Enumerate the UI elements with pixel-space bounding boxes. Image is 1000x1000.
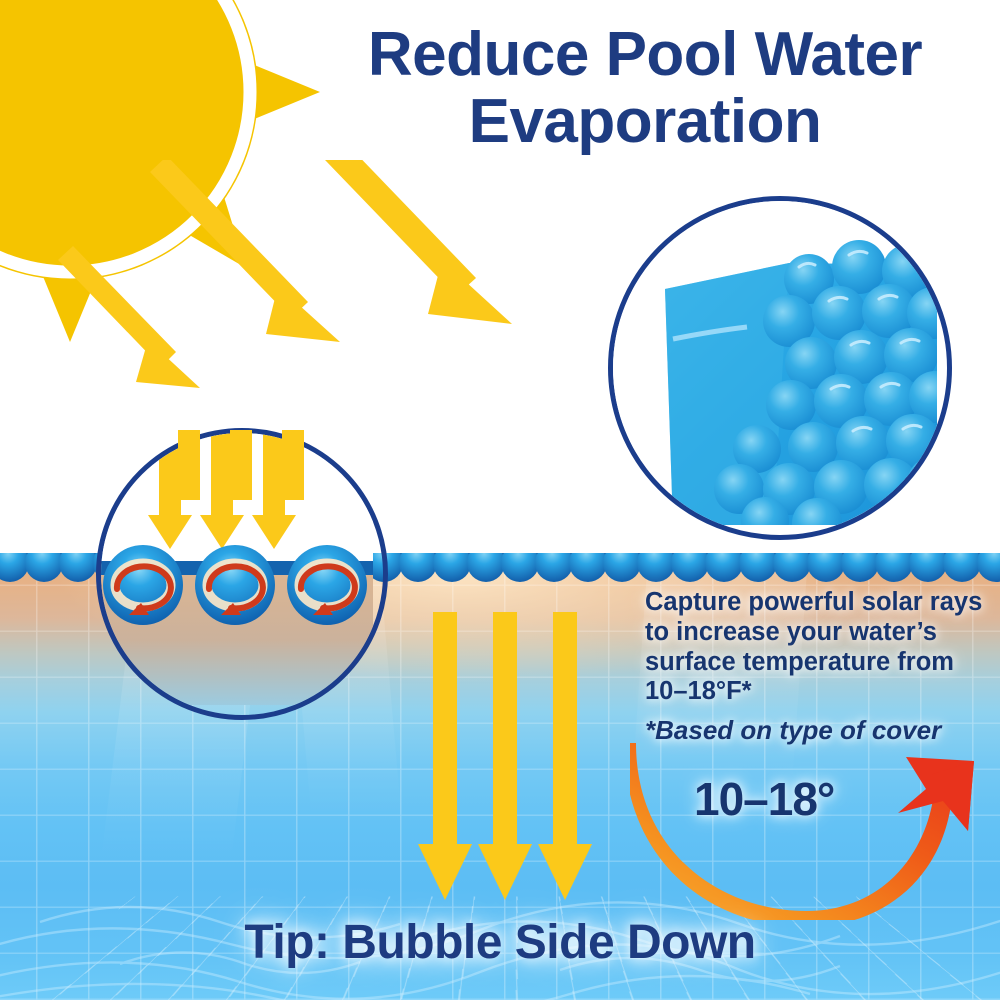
product-photo-inset [608, 196, 952, 540]
infographic-poster: Reduce Pool Water Evaporation [0, 0, 1000, 1000]
solar-cover-bubble-photo [613, 201, 947, 535]
downward-arrows-icon [415, 612, 605, 902]
headline-line-1: Reduce Pool Water [368, 20, 922, 89]
body-paragraph: Capture powerful solar rays to increase … [645, 588, 985, 707]
temperature-badge: 10–18° [694, 772, 834, 826]
diagram-ray-arrow-tops [170, 430, 310, 500]
tip-text: Tip: Bubble Side Down [0, 915, 1000, 970]
headline-line-2: Evaporation [300, 89, 990, 156]
page-title: Reduce Pool Water Evaporation [300, 22, 990, 156]
rising-temperature-arrow-icon [630, 735, 1000, 920]
